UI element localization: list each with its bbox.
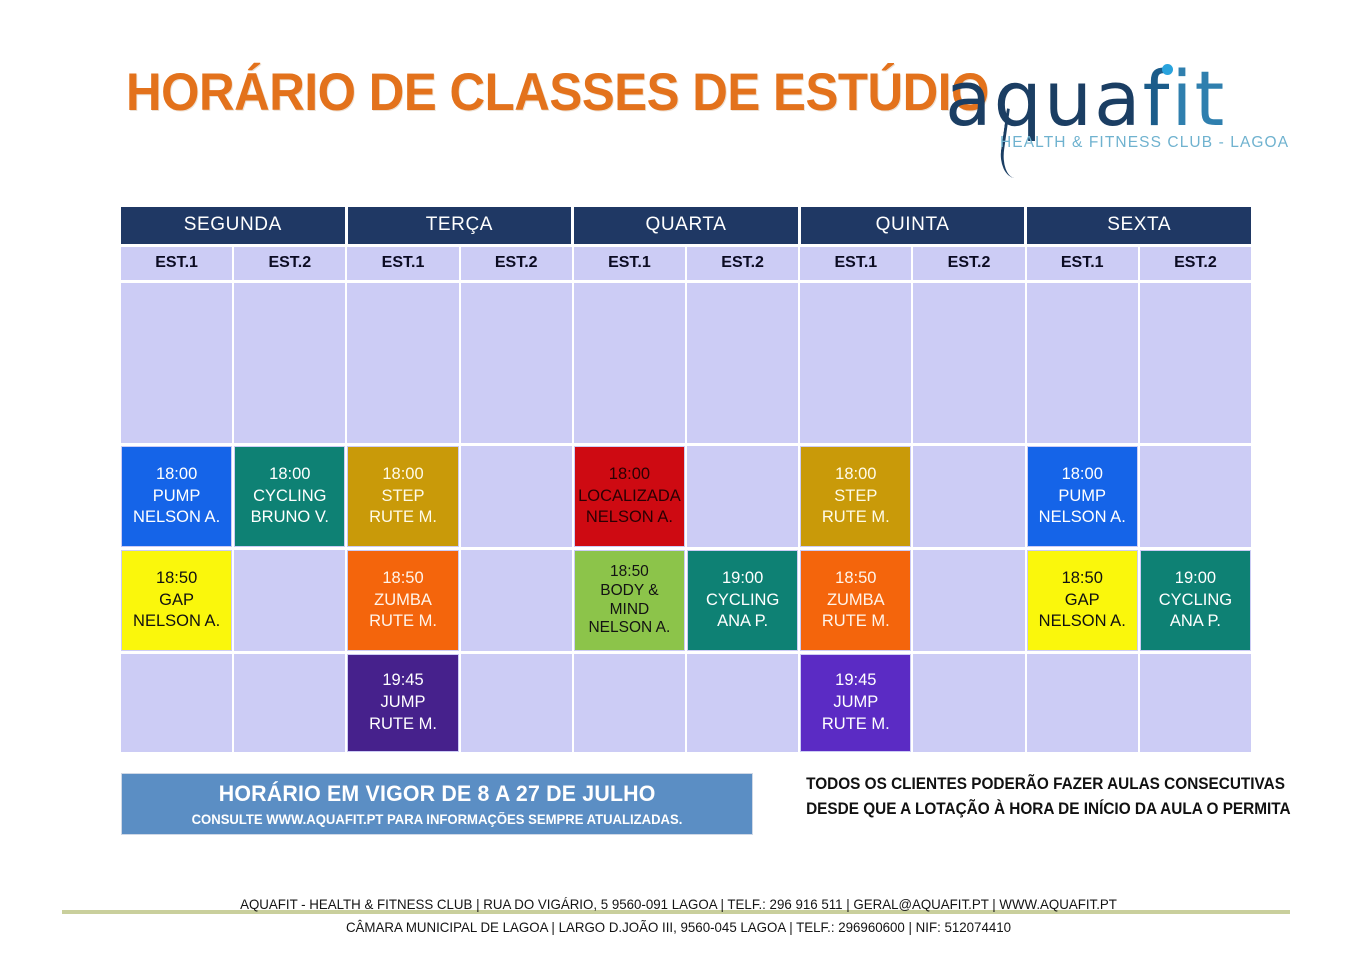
slot-cell-r1-c0[interactable]: 18:00PUMPNELSON A. bbox=[121, 446, 234, 547]
class-name: GAP bbox=[1065, 590, 1100, 612]
class-time: 18:00 bbox=[156, 464, 197, 486]
slot-cell-r3-c1 bbox=[234, 654, 347, 752]
class-block-step[interactable]: 18:00STEPRUTE M. bbox=[348, 447, 457, 546]
slot-cell-r3-c9 bbox=[1140, 654, 1251, 752]
class-instructor: ANA P. bbox=[717, 611, 768, 633]
class-time: 19:00 bbox=[722, 568, 763, 590]
class-block-pump[interactable]: 18:00PUMPNELSON A. bbox=[122, 447, 231, 546]
slot-cell-r2-c2[interactable]: 18:50ZUMBARUTE M. bbox=[347, 550, 460, 651]
class-instructor: NELSON A. bbox=[133, 507, 220, 529]
class-name: LOCALIZADA bbox=[578, 486, 681, 508]
slot-cell-r0-c0 bbox=[121, 283, 234, 443]
studio-header-5: EST.2 bbox=[687, 244, 800, 280]
slot-cell-r1-c6[interactable]: 18:00STEPRUTE M. bbox=[800, 446, 913, 547]
notice-line-2: DESDE QUE A LOTAÇÃO À HORA DE INÍCIO DA … bbox=[806, 797, 1234, 822]
banner-sub-text: CONSULTE WWW.AQUAFIT.PT PARA INFORMAÇÕES… bbox=[192, 812, 683, 827]
class-instructor: RUTE M. bbox=[822, 611, 890, 633]
class-block-zumba[interactable]: 18:50ZUMBARUTE M. bbox=[801, 551, 910, 650]
studio-header-2: EST.1 bbox=[347, 244, 460, 280]
studio-header-3: EST.2 bbox=[461, 244, 574, 280]
slot-cell-r2-c0[interactable]: 18:50GAPNELSON A. bbox=[121, 550, 234, 651]
slot-cell-r1-c8[interactable]: 18:00PUMPNELSON A. bbox=[1027, 446, 1140, 547]
class-time: 18:50 bbox=[156, 568, 197, 590]
footer-line-1: AQUAFIT - HEALTH & FITNESS CLUB | RUA DO… bbox=[34, 893, 1323, 916]
studio-header-9: EST.2 bbox=[1140, 244, 1251, 280]
slot-cell-r2-c6[interactable]: 18:50ZUMBARUTE M. bbox=[800, 550, 913, 651]
slot-cell-r0-c5 bbox=[687, 283, 800, 443]
class-name: PUMP bbox=[1058, 486, 1106, 508]
class-block-cycling[interactable]: 18:00CYCLINGBRUNO V. bbox=[235, 447, 344, 546]
slot-cell-r2-c5[interactable]: 19:00CYCLINGANA P. bbox=[687, 550, 800, 651]
class-block-body-mind[interactable]: 18:50BODY &MINDNELSON A. bbox=[575, 551, 684, 650]
class-block-localizada[interactable]: 18:00LOCALIZADANELSON A. bbox=[575, 447, 684, 546]
slot-cell-r3-c2[interactable]: 19:45JUMPRUTE M. bbox=[347, 654, 460, 752]
class-time: 18:50 bbox=[1062, 568, 1103, 590]
row-1850: 18:50GAPNELSON A.18:50ZUMBARUTE M.18:50B… bbox=[121, 547, 1251, 651]
class-instructor: NELSON A. bbox=[588, 619, 670, 638]
slot-cell-r2-c9[interactable]: 19:00CYCLINGANA P. bbox=[1140, 550, 1251, 651]
class-name: PUMP bbox=[153, 486, 201, 508]
class-block-step[interactable]: 18:00STEPRUTE M. bbox=[801, 447, 910, 546]
class-instructor: RUTE M. bbox=[822, 507, 890, 529]
slot-cell-r2-c1 bbox=[234, 550, 347, 651]
slot-cell-r3-c6[interactable]: 19:45JUMPRUTE M. bbox=[800, 654, 913, 752]
day-header-segunda: SEGUNDA bbox=[121, 207, 348, 244]
slot-cell-r0-c4 bbox=[574, 283, 687, 443]
logo-text-aqua: aqua bbox=[945, 54, 1143, 143]
contact-footer: AQUAFIT - HEALTH & FITNESS CLUB | RUA DO… bbox=[0, 893, 1357, 938]
slot-cell-r0-c1 bbox=[234, 283, 347, 443]
class-time: 19:45 bbox=[382, 670, 423, 692]
schedule-validity-banner: HORÁRIO EM VIGOR DE 8 A 27 DE JULHO CONS… bbox=[121, 773, 753, 835]
class-block-cycling[interactable]: 19:00CYCLINGANA P. bbox=[688, 551, 797, 650]
class-name: STEP bbox=[834, 486, 877, 508]
slot-cell-r0-c2 bbox=[347, 283, 460, 443]
slot-cell-r3-c8 bbox=[1027, 654, 1140, 752]
class-time: 18:00 bbox=[382, 464, 423, 486]
slot-cell-r3-c3 bbox=[461, 654, 574, 752]
slot-cell-r1-c2[interactable]: 18:00STEPRUTE M. bbox=[347, 446, 460, 547]
banner-main-text: HORÁRIO EM VIGOR DE 8 A 27 DE JULHO bbox=[219, 781, 656, 807]
slot-cell-r1-c4[interactable]: 18:00LOCALIZADANELSON A. bbox=[574, 446, 687, 547]
logo-dot-icon bbox=[1162, 64, 1173, 75]
day-header-terça: TERÇA bbox=[348, 207, 575, 244]
slot-cell-r1-c1[interactable]: 18:00CYCLINGBRUNO V. bbox=[234, 446, 347, 547]
slot-cell-r3-c4 bbox=[574, 654, 687, 752]
class-instructor: NELSON A. bbox=[1039, 507, 1126, 529]
schedule-grid: SEGUNDATERÇAQUARTAQUINTASEXTA EST.1EST.2… bbox=[121, 207, 1251, 752]
slot-cell-r3-c5 bbox=[687, 654, 800, 752]
studio-header-1: EST.2 bbox=[234, 244, 347, 280]
class-time: 18:50 bbox=[382, 568, 423, 590]
studio-header-8: EST.1 bbox=[1027, 244, 1140, 280]
class-name: CYCLING bbox=[706, 590, 779, 612]
logo-tagline: HEALTH & FITNESS CLUB - LAGOA bbox=[1000, 134, 1289, 152]
slot-cell-r1-c5 bbox=[687, 446, 800, 547]
class-name: JUMP bbox=[381, 692, 426, 714]
studio-header-6: EST.1 bbox=[800, 244, 913, 280]
class-name-line1: BODY & bbox=[600, 582, 658, 601]
slot-cell-r2-c3 bbox=[461, 550, 574, 651]
footer-line-2: CÂMARA MUNICIPAL DE LAGOA | LARGO D.JOÃO… bbox=[34, 916, 1323, 939]
slot-cell-r1-c3 bbox=[461, 446, 574, 547]
class-instructor: NELSON A. bbox=[1039, 611, 1126, 633]
page-title: HORÁRIO DE CLASSES DE ESTÚDIO bbox=[126, 62, 989, 123]
class-block-gap[interactable]: 18:50GAPNELSON A. bbox=[1028, 551, 1137, 650]
class-instructor: NELSON A. bbox=[586, 507, 673, 529]
slot-cell-r3-c7 bbox=[913, 654, 1026, 752]
class-name: STEP bbox=[381, 486, 424, 508]
class-time: 18:00 bbox=[835, 464, 876, 486]
class-instructor: RUTE M. bbox=[369, 611, 437, 633]
class-time: 18:00 bbox=[1062, 464, 1103, 486]
class-name: JUMP bbox=[833, 692, 878, 714]
class-time: 18:00 bbox=[609, 464, 650, 486]
class-time: 19:45 bbox=[835, 670, 876, 692]
slot-cell-r2-c8[interactable]: 18:50GAPNELSON A. bbox=[1027, 550, 1140, 651]
class-instructor: RUTE M. bbox=[369, 507, 437, 529]
slot-cell-r1-c7 bbox=[913, 446, 1026, 547]
class-time: 18:50 bbox=[835, 568, 876, 590]
class-name: CYCLING bbox=[1159, 590, 1232, 612]
studio-header-7: EST.2 bbox=[913, 244, 1026, 280]
class-time: 18:50 bbox=[610, 563, 649, 582]
slot-cell-r1-c9 bbox=[1140, 446, 1251, 547]
day-header-row: SEGUNDATERÇAQUARTAQUINTASEXTA bbox=[121, 207, 1251, 244]
slot-cell-r0-c3 bbox=[461, 283, 574, 443]
slot-cell-r0-c8 bbox=[1027, 283, 1140, 443]
studio-header-0: EST.1 bbox=[121, 244, 234, 280]
class-block-zumba[interactable]: 18:50ZUMBARUTE M. bbox=[348, 551, 457, 650]
class-block-cycling[interactable]: 19:00CYCLINGANA P. bbox=[1141, 551, 1250, 650]
class-time: 19:00 bbox=[1175, 568, 1216, 590]
class-instructor: NELSON A. bbox=[133, 611, 220, 633]
logo-text-it: it bbox=[1171, 54, 1226, 143]
empty-row bbox=[121, 280, 1251, 443]
class-name: ZUMBA bbox=[374, 590, 432, 612]
class-instructor: RUTE M. bbox=[822, 714, 890, 736]
day-header-quinta: QUINTA bbox=[801, 207, 1028, 244]
class-instructor: RUTE M. bbox=[369, 714, 437, 736]
day-header-quarta: QUARTA bbox=[574, 207, 801, 244]
studio-header-4: EST.1 bbox=[574, 244, 687, 280]
page-header: HORÁRIO DE CLASSES DE ESTÚDIO aquafit HE… bbox=[0, 0, 1357, 190]
class-instructor: ANA P. bbox=[1170, 611, 1221, 633]
aquafit-logo: aquafit HEALTH & FITNESS CLUB - LAGOA bbox=[940, 52, 1250, 177]
slot-cell-r3-c0 bbox=[121, 654, 234, 752]
class-name: GAP bbox=[159, 590, 194, 612]
row-1800: 18:00PUMPNELSON A.18:00CYCLINGBRUNO V.18… bbox=[121, 443, 1251, 547]
class-block-jump[interactable]: 19:45JUMPRUTE M. bbox=[801, 655, 910, 751]
class-instructor: BRUNO V. bbox=[251, 507, 329, 529]
slot-cell-r0-c6 bbox=[800, 283, 913, 443]
class-time: 18:00 bbox=[269, 464, 310, 486]
slot-cell-r0-c9 bbox=[1140, 283, 1251, 443]
class-block-gap[interactable]: 18:50GAPNELSON A. bbox=[122, 551, 231, 650]
row-1945: 19:45JUMPRUTE M.19:45JUMPRUTE M. bbox=[121, 651, 1251, 752]
logo-wordmark: aquafit bbox=[945, 54, 1226, 143]
slot-cell-r2-c7 bbox=[913, 550, 1026, 651]
class-name: CYCLING bbox=[253, 486, 326, 508]
class-name-line2: MIND bbox=[610, 601, 650, 620]
class-name: ZUMBA bbox=[827, 590, 885, 612]
schedule-body: 18:00PUMPNELSON A.18:00CYCLINGBRUNO V.18… bbox=[121, 280, 1251, 752]
studio-header-row: EST.1EST.2EST.1EST.2EST.1EST.2EST.1EST.2… bbox=[121, 244, 1251, 280]
class-block-jump[interactable]: 19:45JUMPRUTE M. bbox=[348, 655, 457, 751]
slot-cell-r0-c7 bbox=[913, 283, 1026, 443]
slot-cell-r2-c4[interactable]: 18:50BODY &MINDNELSON A. bbox=[574, 550, 687, 651]
class-block-pump[interactable]: 18:00PUMPNELSON A. bbox=[1028, 447, 1137, 546]
day-header-sexta: SEXTA bbox=[1027, 207, 1251, 244]
consecutive-classes-notice: TODOS OS CLIENTES PODERÃO FAZER AULAS CO… bbox=[790, 772, 1250, 822]
notice-line-1: TODOS OS CLIENTES PODERÃO FAZER AULAS CO… bbox=[806, 772, 1234, 797]
